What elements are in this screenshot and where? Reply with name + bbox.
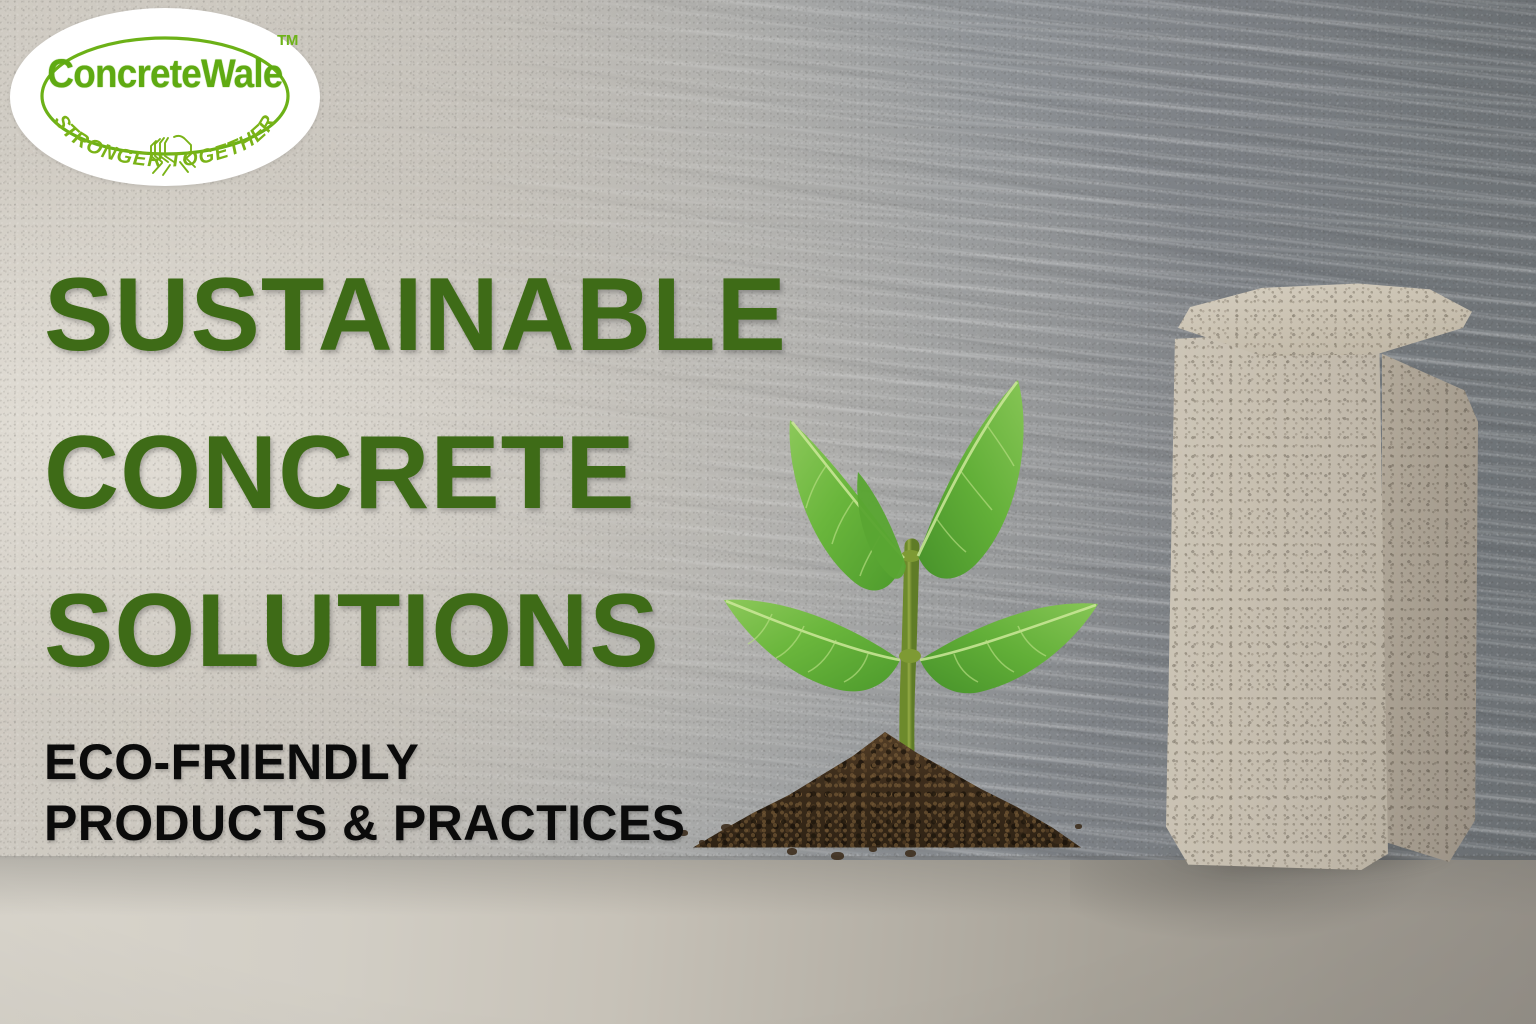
stem-node-lower (899, 649, 921, 663)
block-side-texture (1382, 338, 1478, 862)
block-side-face (1382, 338, 1478, 862)
concrete-block (1152, 282, 1482, 870)
leaf-lower-right (920, 603, 1098, 693)
block-front-texture (1166, 328, 1388, 870)
sustainable-concrete-banner: STRONGER TOGETHER ConcreteWale TM SUSTAI… (0, 0, 1536, 1024)
headline-line-1: SUSTAINABLE (44, 236, 804, 394)
headline-line-2: CONCRETE (44, 394, 804, 552)
leaf-upper-right (918, 380, 1024, 579)
subheading-line-1: ECO-FRIENDLY (44, 732, 804, 793)
logo-wordmark: ConcreteWale (22, 52, 307, 97)
logo-trademark-symbol: TM (277, 32, 298, 49)
subheading-block: ECO-FRIENDLY PRODUCTS & PRACTICES (44, 732, 804, 854)
brand-logo[interactable]: STRONGER TOGETHER ConcreteWale TM (10, 8, 320, 186)
subheading-line-2: PRODUCTS & PRACTICES (44, 793, 804, 854)
block-front-face (1166, 328, 1388, 870)
logo-artwork: STRONGER TOGETHER (10, 8, 320, 186)
headline-block: SUSTAINABLE CONCRETE SOLUTIONS ECO-FRIEN… (44, 236, 804, 854)
headline-line-3: SOLUTIONS (44, 552, 804, 710)
